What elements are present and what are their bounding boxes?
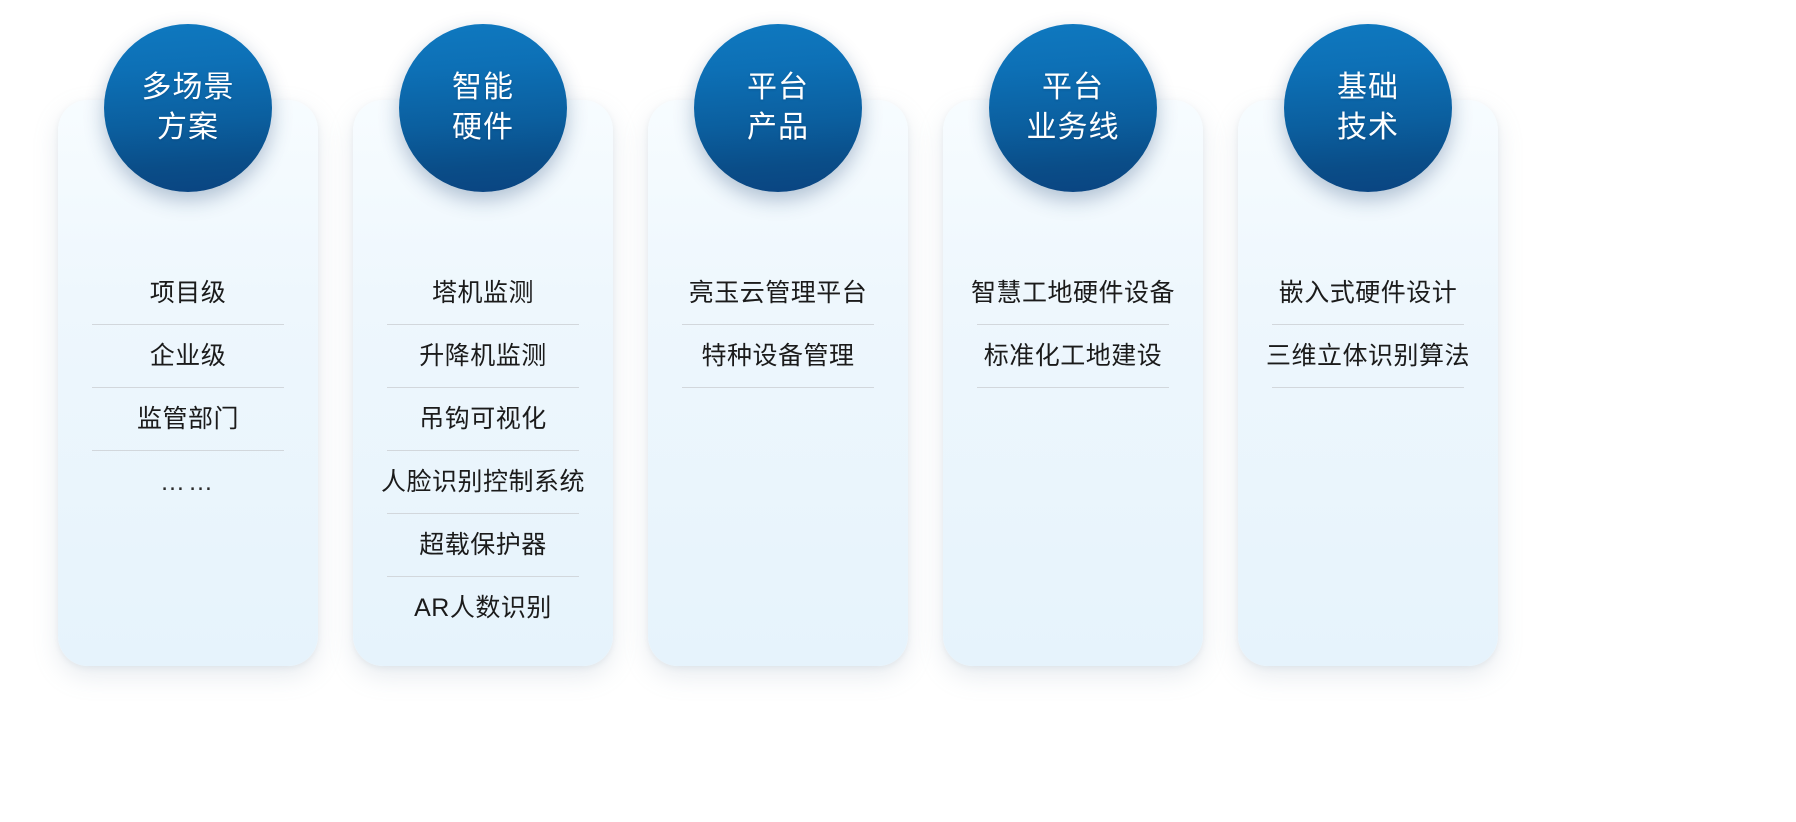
category-item[interactable]: 升降机监测: [369, 325, 597, 388]
category-item-list: 项目级企业级监管部门……: [58, 262, 318, 514]
category-item-label: 项目级: [150, 279, 227, 307]
category-item[interactable]: 三维立体识别算法: [1254, 325, 1482, 388]
category-item[interactable]: AR人数识别: [369, 577, 597, 640]
category-item[interactable]: 特种设备管理: [664, 325, 892, 388]
category-item[interactable]: 塔机监测: [369, 262, 597, 325]
category-item-label: 嵌入式硬件设计: [1279, 279, 1458, 307]
category-item-label: 超载保护器: [419, 531, 547, 559]
category-item-label: 特种设备管理: [701, 342, 854, 370]
category-badge-circle[interactable]: 基础技术: [1284, 24, 1452, 192]
item-separator: [682, 387, 874, 388]
category-badge-line1: 平台: [747, 68, 809, 108]
category-item-list: 智慧工地硬件设备标准化工地建设: [943, 262, 1203, 388]
category-badge-line2: 方案: [157, 108, 219, 148]
category-item-list: 亮玉云管理平台特种设备管理: [648, 262, 908, 388]
category-item[interactable]: 嵌入式硬件设计: [1254, 262, 1482, 325]
category-item[interactable]: 监管部门: [74, 388, 302, 451]
category-item[interactable]: 智慧工地硬件设备: [959, 262, 1187, 325]
diagram-canvas: 项目级企业级监管部门……多场景方案塔机监测升降机监测吊钩可视化人脸识别控制系统超…: [0, 0, 1796, 822]
category-badge-circle[interactable]: 多场景方案: [104, 24, 272, 192]
category-item-ellipsis[interactable]: ……: [74, 451, 302, 514]
category-item[interactable]: 标准化工地建设: [959, 325, 1187, 388]
category-item-label: 人脸识别控制系统: [381, 468, 585, 496]
category-item[interactable]: 人脸识别控制系统: [369, 451, 597, 514]
category-column: 智慧工地硬件设备标准化工地建设平台业务线: [943, 0, 1203, 822]
category-item-label: 亮玉云管理平台: [689, 279, 868, 307]
category-item-label: 吊钩可视化: [419, 405, 547, 433]
category-badge-circle[interactable]: 平台业务线: [989, 24, 1157, 192]
category-columns: 项目级企业级监管部门……多场景方案塔机监测升降机监测吊钩可视化人脸识别控制系统超…: [0, 0, 1796, 822]
category-item-label: 智慧工地硬件设备: [971, 279, 1175, 307]
category-item-label: 塔机监测: [432, 279, 534, 307]
category-item-label: ……: [160, 468, 216, 496]
category-item[interactable]: 项目级: [74, 262, 302, 325]
category-badge-line2: 业务线: [1027, 108, 1120, 148]
category-item-list: 塔机监测升降机监测吊钩可视化人脸识别控制系统超载保护器AR人数识别: [353, 262, 613, 640]
item-separator: [977, 387, 1169, 388]
category-item-label: 标准化工地建设: [984, 342, 1163, 370]
category-item[interactable]: 亮玉云管理平台: [664, 262, 892, 325]
category-item-label: 监管部门: [137, 405, 239, 433]
category-badge-line1: 平台: [1042, 68, 1104, 108]
category-item-list: 嵌入式硬件设计三维立体识别算法: [1238, 262, 1498, 388]
category-badge-line2: 产品: [747, 108, 809, 148]
category-badge-line2: 硬件: [452, 108, 514, 148]
category-badge-line2: 技术: [1337, 108, 1399, 148]
category-item[interactable]: 企业级: [74, 325, 302, 388]
category-badge-line1: 多场景: [142, 68, 235, 108]
category-item-label: AR人数识别: [414, 594, 552, 622]
category-column: 项目级企业级监管部门……多场景方案: [58, 0, 318, 822]
category-column: 亮玉云管理平台特种设备管理平台产品: [648, 0, 908, 822]
category-item-label: 升降机监测: [419, 342, 547, 370]
category-column: 塔机监测升降机监测吊钩可视化人脸识别控制系统超载保护器AR人数识别智能硬件: [353, 0, 613, 822]
category-item-label: 企业级: [150, 342, 227, 370]
item-separator: [1272, 387, 1464, 388]
category-item[interactable]: 吊钩可视化: [369, 388, 597, 451]
category-item-label: 三维立体识别算法: [1266, 342, 1470, 370]
category-badge-line1: 基础: [1337, 68, 1399, 108]
category-item[interactable]: 超载保护器: [369, 514, 597, 577]
category-column: 嵌入式硬件设计三维立体识别算法基础技术: [1238, 0, 1498, 822]
category-badge-circle[interactable]: 平台产品: [694, 24, 862, 192]
category-badge-line1: 智能: [452, 68, 514, 108]
category-badge-circle[interactable]: 智能硬件: [399, 24, 567, 192]
